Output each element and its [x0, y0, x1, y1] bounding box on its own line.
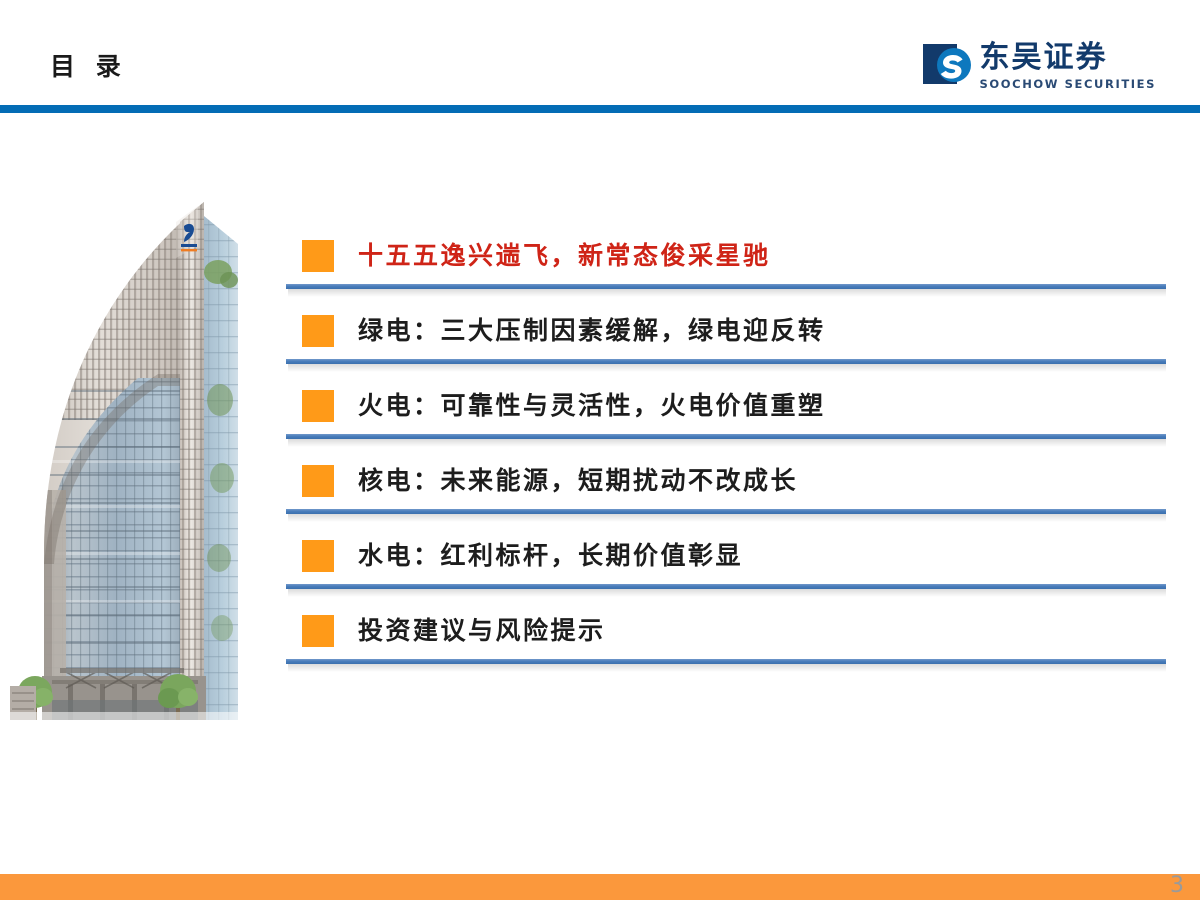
agenda-item[interactable]: 水电：红利标杆，长期价值彰显: [286, 522, 1166, 597]
logo-wordmark: 东吴证券 SOOCHOW SECURITIES: [980, 42, 1156, 91]
logo-name-en: SOOCHOW SECURITIES: [980, 77, 1156, 91]
agenda-item[interactable]: 十五五逸兴遄飞，新常态俊采星驰: [286, 222, 1166, 297]
page-number: 3: [1170, 873, 1184, 898]
tower-logo-plaque-icon: [176, 206, 198, 258]
agenda-item-divider: [286, 284, 1166, 289]
footer-band: [0, 874, 1200, 900]
bullet-square-icon: [302, 465, 334, 497]
office-tower-illustration: [8, 160, 284, 720]
bullet-square-icon: [302, 315, 334, 347]
bullet-square-icon: [302, 240, 334, 272]
bullet-square-icon: [302, 540, 334, 572]
agenda-item[interactable]: 投资建议与风险提示: [286, 597, 1166, 672]
header-divider-rule: [0, 105, 1200, 113]
bullet-square-icon: [302, 390, 334, 422]
page-title: 目 录: [50, 54, 127, 79]
agenda-item[interactable]: 绿电：三大压制因素缓解，绿电迎反转: [286, 297, 1166, 372]
agenda-item-label: 火电：可靠性与灵活性，火电价值重塑: [358, 386, 826, 426]
agenda-item-divider: [286, 509, 1166, 514]
logo-name-cn: 东吴证券: [980, 42, 1156, 74]
agenda-item-divider: [286, 434, 1166, 439]
company-logo: 东吴证券 SOOCHOW SECURITIES: [923, 42, 1156, 91]
agenda-list: 十五五逸兴遄飞，新常态俊采星驰 绿电：三大压制因素缓解，绿电迎反转 火电：可靠性…: [286, 222, 1166, 672]
agenda-item-label: 十五五逸兴遄飞，新常态俊采星驰: [358, 236, 771, 276]
agenda-item-label: 投资建议与风险提示: [358, 611, 606, 651]
agenda-item-label: 绿电：三大压制因素缓解，绿电迎反转: [358, 311, 826, 351]
agenda-item[interactable]: 火电：可靠性与灵活性，火电价值重塑: [286, 372, 1166, 447]
agenda-item-divider: [286, 584, 1166, 589]
agenda-item-label: 水电：红利标杆，长期价值彰显: [358, 536, 743, 576]
slide-header: 目 录 东吴证券 SOOCHOW SECURITIES: [0, 0, 1200, 110]
soochow-logo-mark-icon: [923, 42, 971, 90]
agenda-item-divider: [286, 659, 1166, 664]
bullet-square-icon: [302, 615, 334, 647]
agenda-item-label: 核电：未来能源，短期扰动不改成长: [358, 461, 798, 501]
agenda-item-divider: [286, 359, 1166, 364]
agenda-item[interactable]: 核电：未来能源，短期扰动不改成长: [286, 447, 1166, 522]
